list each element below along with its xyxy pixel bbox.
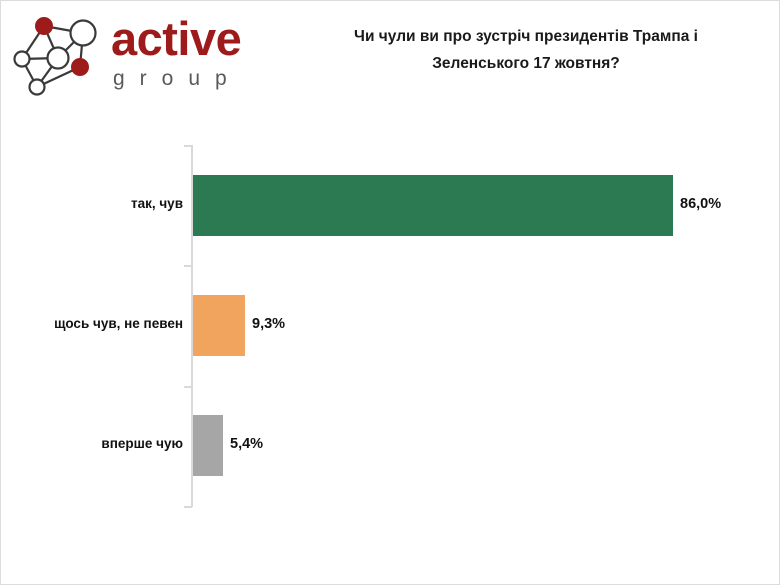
bar-row: вперше чую 5,4% xyxy=(1,415,780,476)
axis-tick xyxy=(184,145,192,147)
bar-so-chuv[interactable] xyxy=(193,175,673,236)
chart-plot-area: так, чув 86,0% щось чув, не певен 9,3% в… xyxy=(1,1,780,585)
bar-value-label: 5,4% xyxy=(230,436,263,452)
bar-row: так, чув 86,0% xyxy=(1,175,780,236)
bar-row: щось чув, не певен 9,3% xyxy=(1,295,780,356)
bar-category-label: щось чув, не певен xyxy=(54,316,183,331)
bar-vpershe-chuyu[interactable] xyxy=(193,415,223,476)
bar-value-label: 9,3% xyxy=(252,316,285,332)
bar-category-label: вперше чую xyxy=(101,436,183,451)
bar-category-label: так, чув xyxy=(131,196,183,211)
bar-shchos-chuv[interactable] xyxy=(193,295,245,356)
axis-tick xyxy=(184,506,192,508)
chart-canvas: active group Чи чули ви про зустріч през… xyxy=(0,0,780,585)
axis-tick xyxy=(184,386,192,388)
bar-value-label: 86,0% xyxy=(680,196,721,212)
axis-tick xyxy=(184,265,192,267)
